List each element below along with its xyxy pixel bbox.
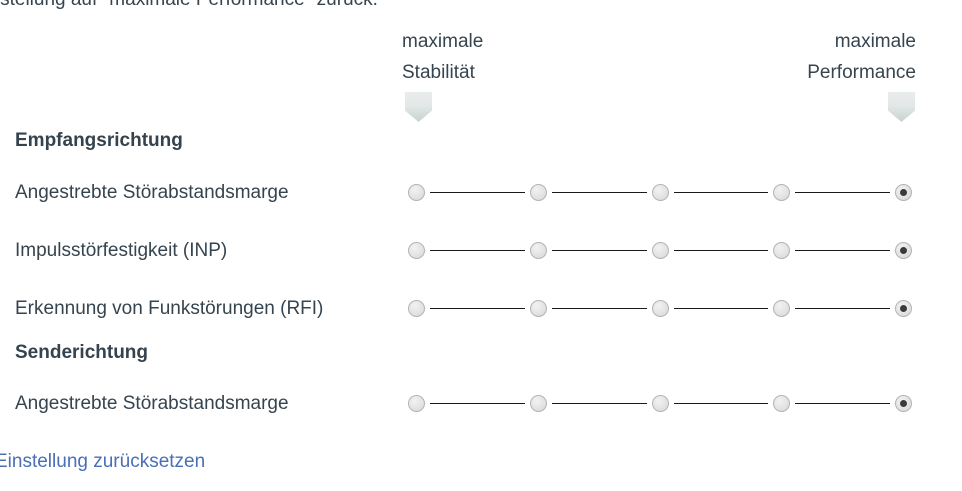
column-header-performance: maximale Performance <box>716 26 916 88</box>
reset-settings-link[interactable]: Einstellung zurücksetzen <box>0 448 205 475</box>
slider-track-segment <box>552 308 647 309</box>
setting-row: Impulsstörfestigkeit (INP) <box>0 234 962 268</box>
group-heading-senderichtung: Senderichtung <box>15 342 148 364</box>
radio-option[interactable] <box>773 184 790 201</box>
radio-option[interactable] <box>652 395 669 412</box>
slider-track-segment <box>430 192 525 193</box>
slider-track-segment <box>552 250 647 251</box>
radio-dot-icon <box>900 189 907 196</box>
radio-option-selected[interactable] <box>895 300 912 317</box>
slider-track-segment <box>552 403 647 404</box>
radio-option[interactable] <box>773 395 790 412</box>
slider-track-segment <box>795 192 890 193</box>
radio-option[interactable] <box>530 242 547 259</box>
setting-row-label: Angestrebte Störabstandsmarge <box>15 387 289 421</box>
radio-option[interactable] <box>773 300 790 317</box>
setting-row: Angestrebte Störabstandsmarge <box>0 387 962 421</box>
radio-dot-icon <box>900 305 907 312</box>
radio-dot-icon <box>900 400 907 407</box>
radio-option[interactable] <box>652 300 669 317</box>
slider-track-segment <box>674 308 769 309</box>
slider-track-segment <box>674 192 769 193</box>
radio-option-selected[interactable] <box>895 242 912 259</box>
slider-track-segment <box>430 403 525 404</box>
radio-option[interactable] <box>408 300 425 317</box>
slider-track-segment <box>674 250 769 251</box>
radio-option[interactable] <box>408 395 425 412</box>
setting-row: Erkennung von Funkstörungen (RFI) <box>0 292 962 326</box>
slider-track-segment <box>795 403 890 404</box>
radio-option[interactable] <box>408 242 425 259</box>
radio-option[interactable] <box>652 242 669 259</box>
pentagon-down-icon-stability <box>405 92 432 122</box>
slider-track-segment <box>795 308 890 309</box>
column-header-performance-line1: maximale <box>716 26 916 57</box>
slider-track-segment <box>552 192 647 193</box>
intro-sentence: Sie setzen die Einstellung auf "maximale… <box>0 0 378 14</box>
setting-slider-3[interactable] <box>408 387 912 421</box>
slider-track-segment <box>674 403 769 404</box>
setting-slider-1[interactable] <box>408 234 912 268</box>
radio-option-selected[interactable] <box>895 184 912 201</box>
slider-track-segment <box>430 250 525 251</box>
setting-slider-0[interactable] <box>408 176 912 210</box>
setting-row-label: Impulsstörfestigkeit (INP) <box>15 234 227 268</box>
setting-slider-2[interactable] <box>408 292 912 326</box>
radio-option[interactable] <box>652 184 669 201</box>
column-header-performance-line2: Performance <box>716 57 916 88</box>
setting-row: Angestrebte Störabstandsmarge <box>0 176 962 210</box>
radio-option[interactable] <box>530 184 547 201</box>
setting-row-label: Angestrebte Störabstandsmarge <box>15 176 289 210</box>
group-heading-empfangsrichtung: Empfangsrichtung <box>15 130 183 152</box>
radio-option[interactable] <box>773 242 790 259</box>
column-header-stability-line1: maximale <box>402 26 602 57</box>
column-header-stability: maximale Stabilität <box>402 26 602 88</box>
setting-row-label: Erkennung von Funkstörungen (RFI) <box>15 292 323 326</box>
radio-option[interactable] <box>530 395 547 412</box>
slider-track-segment <box>795 250 890 251</box>
radio-option-selected[interactable] <box>895 395 912 412</box>
pentagon-down-icon-performance <box>888 92 915 122</box>
slider-track-segment <box>430 308 525 309</box>
radio-option[interactable] <box>408 184 425 201</box>
radio-option[interactable] <box>530 300 547 317</box>
radio-dot-icon <box>900 247 907 254</box>
column-header-stability-line2: Stabilität <box>402 57 602 88</box>
